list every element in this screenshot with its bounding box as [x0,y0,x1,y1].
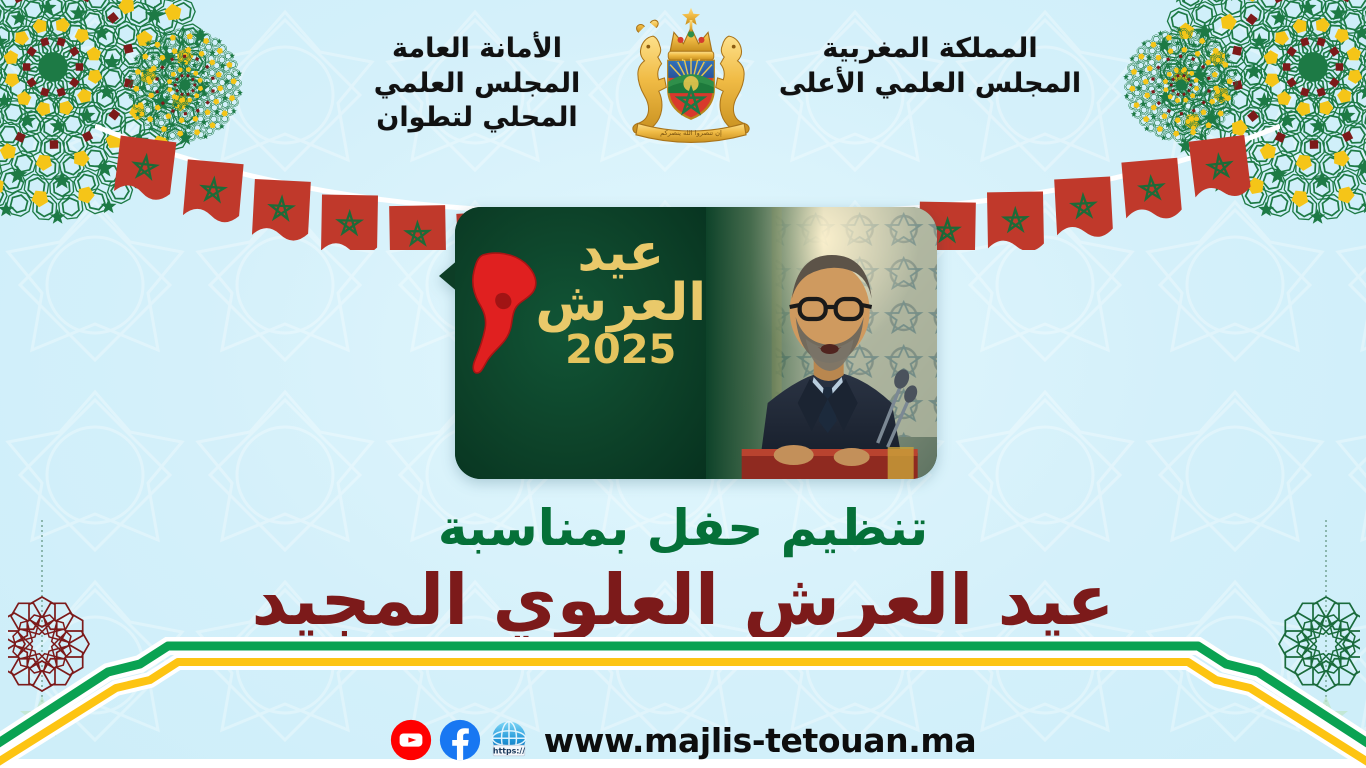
eid-title-block: عيد العرش 2025 [526,229,716,369]
eid-line-1: عيد [526,229,716,279]
king-portrait-photo [706,207,937,479]
eid-year: 2025 [526,331,716,369]
header-left-block: الأمانة العامة المجلس العلمي المحلي لتطو… [322,32,632,136]
header-right-block: المملكة المغربية المجلس العلمي الأعلى [775,32,1085,101]
headline-subtitle: تنظيم حفل بمناسبة [0,503,1366,553]
header-left-line1: الأمانة العامة [322,32,632,67]
facebook-icon[interactable] [439,719,481,761]
website-globe-icon[interactable]: https:// [488,719,530,761]
eid-line-2: العرش [526,279,716,329]
card-green-panel: عيد العرش 2025 [455,207,730,479]
header-left-line2: المجلس العلمي المحلي لتطوان [322,67,632,136]
eid-al-arch-card: عيد العرش 2025 [455,207,937,479]
moroccan-coat-of-arms-icon: إن تنصروا الله ينصركم [615,2,767,150]
poster-root: الأمانة العامة المجلس العلمي المحلي لتطو… [0,0,1366,768]
youtube-icon[interactable] [390,719,432,761]
footer-bar: https:// www.majlis-tetouan.ma [0,712,1366,768]
header-right-line1: المملكة المغربية [775,32,1085,67]
header-right-line2: المجلس العلمي الأعلى [775,67,1085,102]
svg-text:إن تنصروا الله ينصركم: إن تنصروا الله ينصركم [660,129,722,137]
https-badge-label: https:// [493,746,525,755]
website-url-label[interactable]: www.majlis-tetouan.ma [544,721,976,760]
